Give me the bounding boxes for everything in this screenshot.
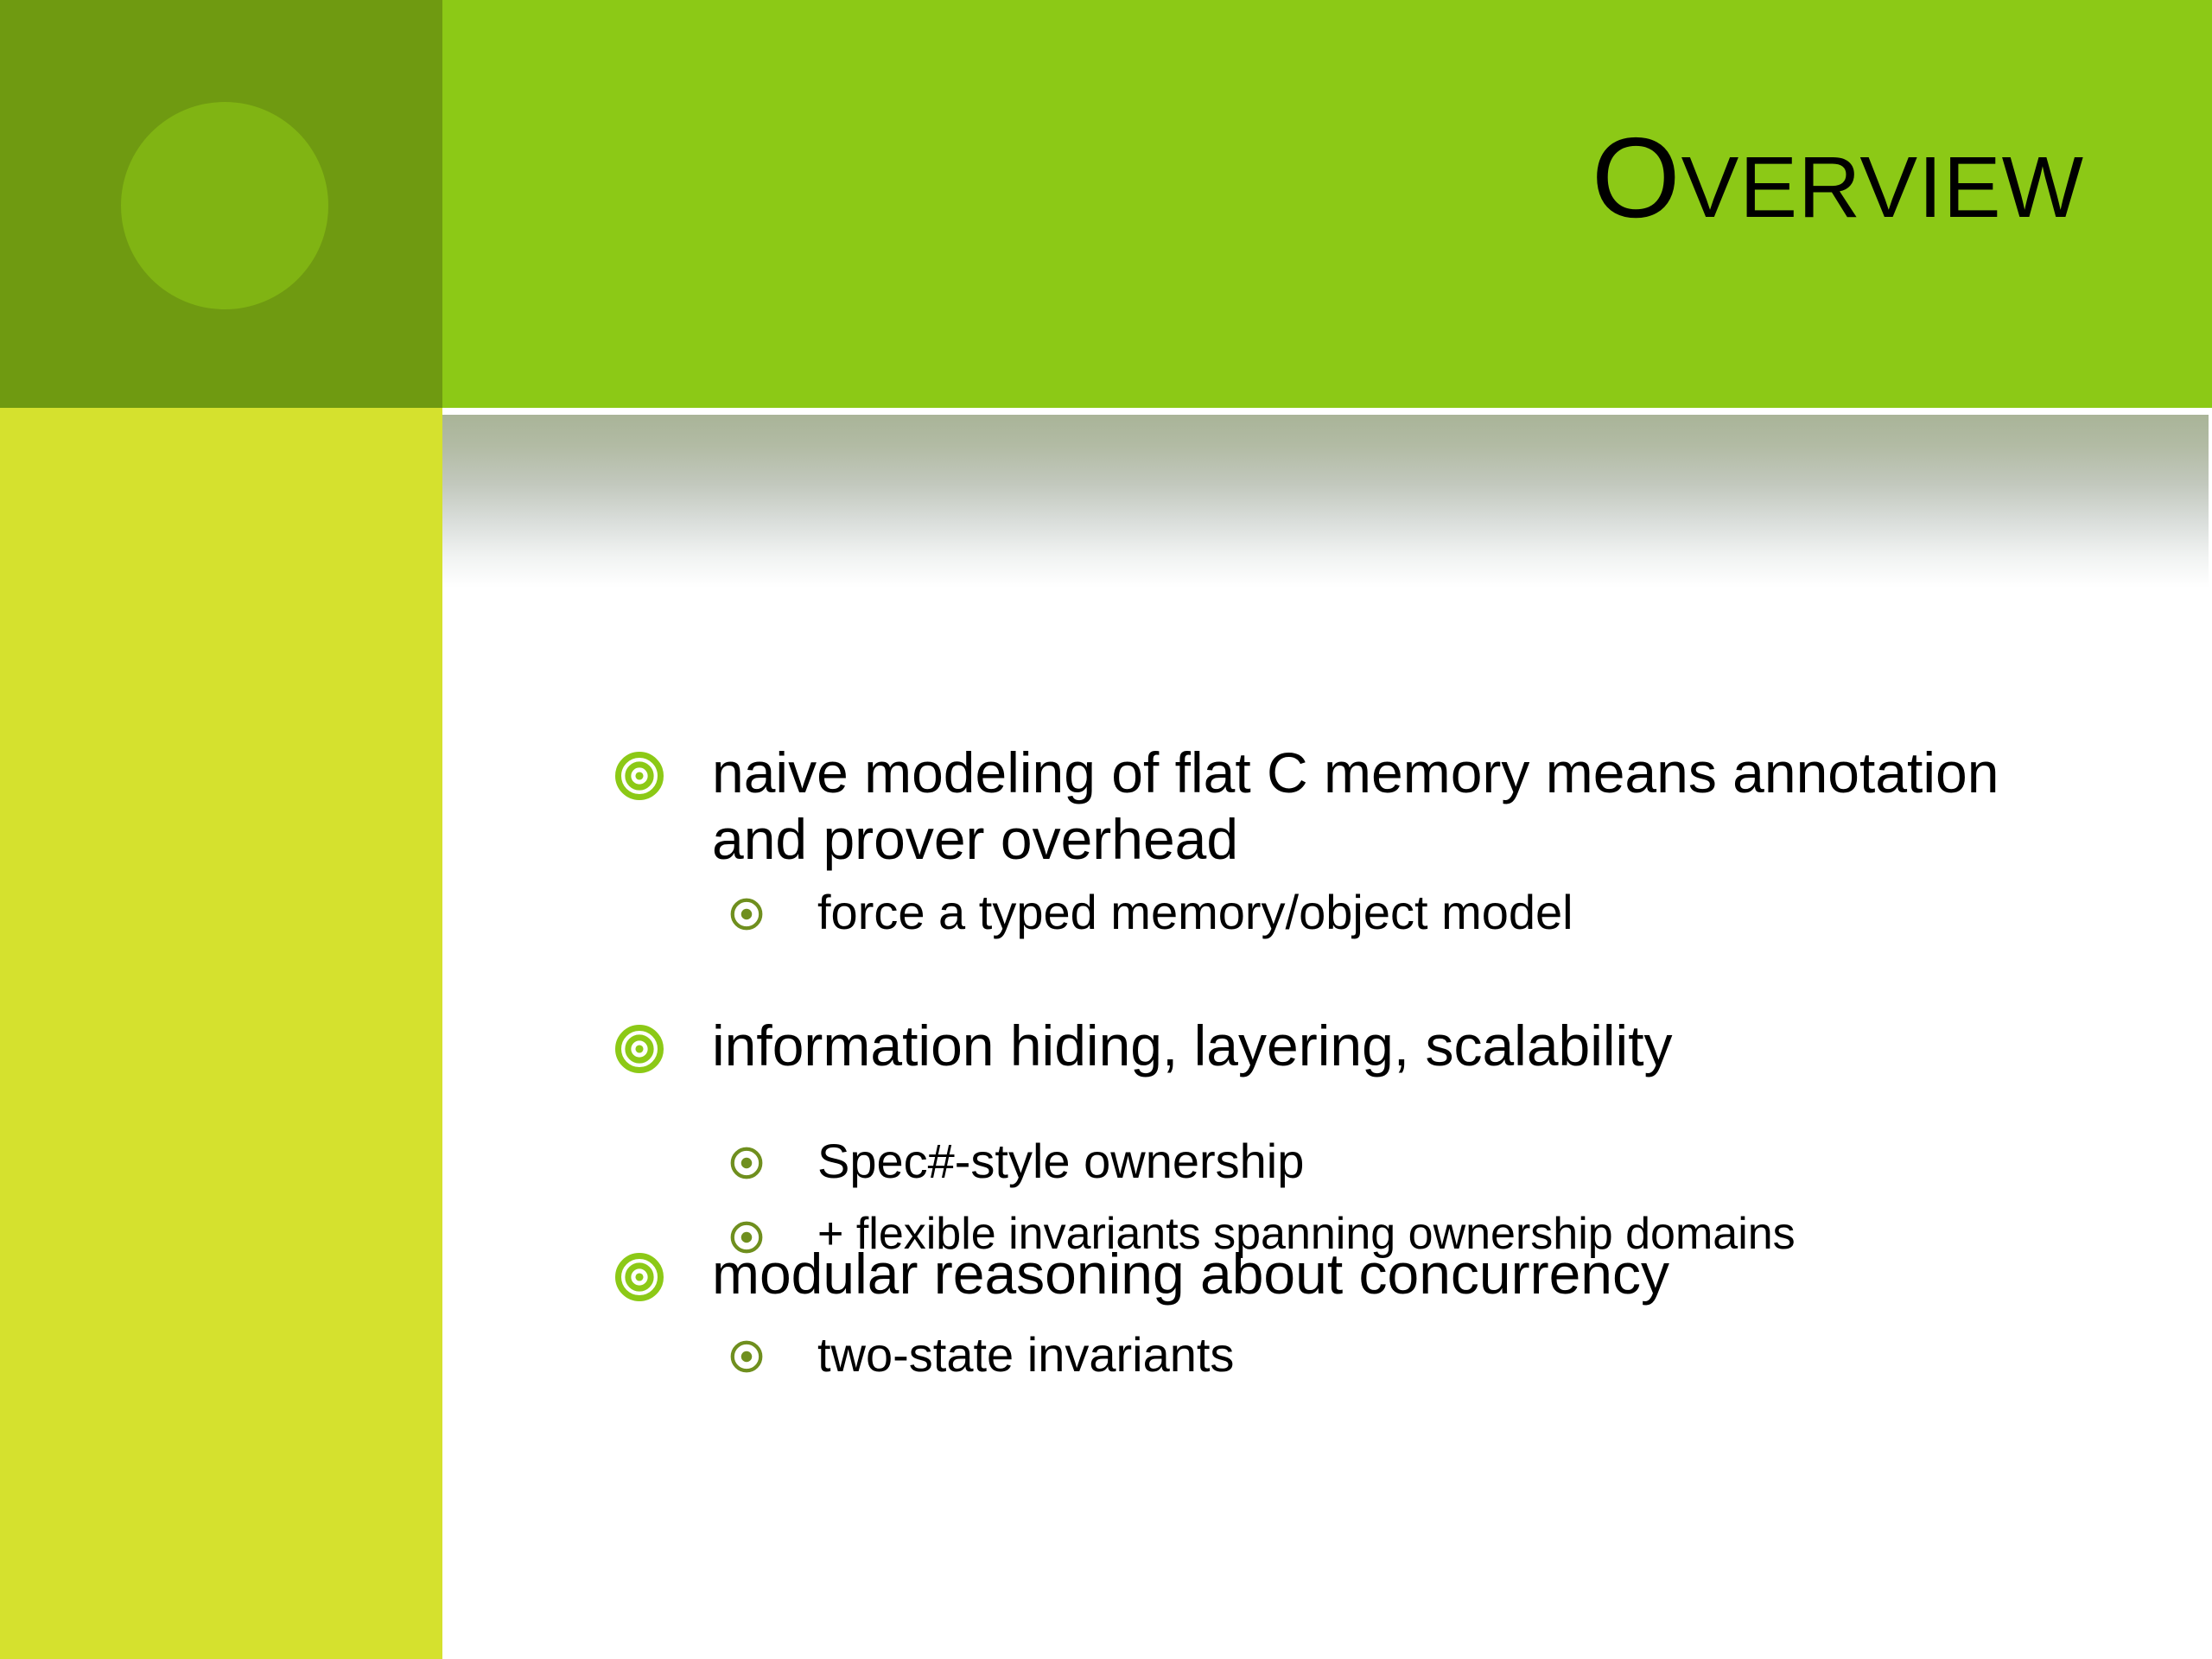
bullet-text: information hiding, layering, scalabilit…	[712, 1013, 1673, 1079]
bullet-text: modular reasoning about concurrency	[712, 1241, 1669, 1307]
bullet-item-level2: two-state invariants	[729, 1327, 1234, 1383]
header-accent-block	[0, 0, 442, 408]
page-title-first-letter: O	[1592, 114, 1681, 241]
presentation-slide: OVERVIEW naive modeling of flat C memory…	[0, 0, 2212, 1659]
bullet-list: naive modeling of flat C memory means an…	[442, 408, 2212, 1659]
slide-header-band: OVERVIEW	[0, 0, 2212, 408]
bullet-item-level1: modular reasoning about concurrency	[615, 1241, 1669, 1307]
bullet-text: naive modeling of flat C memory means an…	[712, 740, 2008, 872]
page-title-rest: VERVIEW	[1681, 139, 2084, 236]
bullet-item-level1: information hiding, layering, scalabilit…	[615, 1013, 1673, 1079]
dot-in-ring-icon	[729, 897, 764, 931]
bullet-text: force a typed memory/object model	[817, 885, 1573, 941]
page-title: OVERVIEW	[1592, 121, 2084, 235]
bullseye-target-icon	[615, 1025, 664, 1073]
sidebar-accent-bar	[0, 408, 442, 1659]
circle-decoration-icon	[121, 102, 328, 309]
dot-in-ring-icon	[729, 1339, 764, 1374]
bullet-text: two-state invariants	[817, 1327, 1234, 1383]
bullet-text: Spec#-style ownership	[817, 1134, 1304, 1190]
slide-content-area: naive modeling of flat C memory means an…	[442, 408, 2212, 1659]
bullseye-target-icon	[615, 752, 664, 800]
bullseye-target-icon	[615, 1253, 664, 1301]
bullet-item-level2: force a typed memory/object model	[729, 885, 1573, 941]
bullet-item-level2: Spec#-style ownership	[729, 1134, 1304, 1190]
dot-in-ring-icon	[729, 1146, 764, 1180]
bullet-item-level1: naive modeling of flat C memory means an…	[615, 740, 2008, 872]
